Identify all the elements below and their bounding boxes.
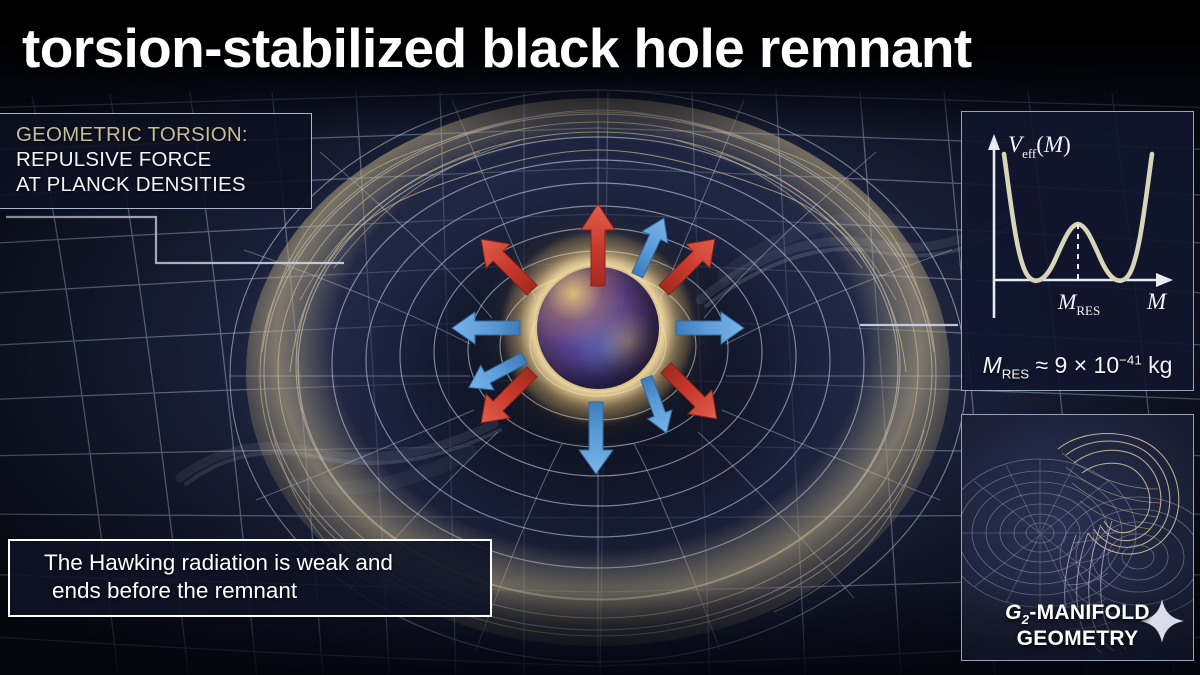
g2-manifold-panel: G2-MANIFOLD GEOMETRY [961,414,1194,661]
caption-line-1: The Hawking radiation is weak and [44,549,476,577]
mres-value-annotation: MRES ≈ 9 × 10−41 kg [962,352,1193,382]
page-title: torsion-stabilized black hole remnant [22,16,972,80]
y-axis-arrowhead [988,134,1000,150]
effective-potential-panel: Veff(M) MRES M MRES ≈ 9 × 10−41 kg [961,111,1194,391]
screenshot-root: torsion-stabilized black hole remnant GE… [0,0,1200,675]
leader-left [6,217,344,263]
callout-line-1: GEOMETRIC TORSION: [16,123,297,148]
hawking-radiation-caption: The Hawking radiation is weak and ends b… [8,539,492,617]
effective-potential-chart: Veff(M) MRES M [962,112,1193,350]
g2-caption-line-2: GEOMETRY [962,627,1193,651]
geometric-torsion-callout: GEOMETRIC TORSION: REPULSIVE FORCE AT PL… [0,113,312,209]
callout-line-2: REPULSIVE FORCE [16,148,297,173]
caption-line-2: ends before the remnant [44,577,476,605]
x-axis-label: M [1146,289,1168,314]
potential-curve [1004,154,1152,281]
g2-caption-line-1: G2-MANIFOLD [962,601,1193,628]
g2-caption: G2-MANIFOLD GEOMETRY [962,601,1193,651]
x-axis-arrowhead [1156,273,1173,287]
y-axis-label: Veff(M) [1008,132,1071,161]
xtick-label-mres: MRES [1057,289,1100,318]
callout-line-3: AT PLANCK DENSITIES [16,173,297,198]
